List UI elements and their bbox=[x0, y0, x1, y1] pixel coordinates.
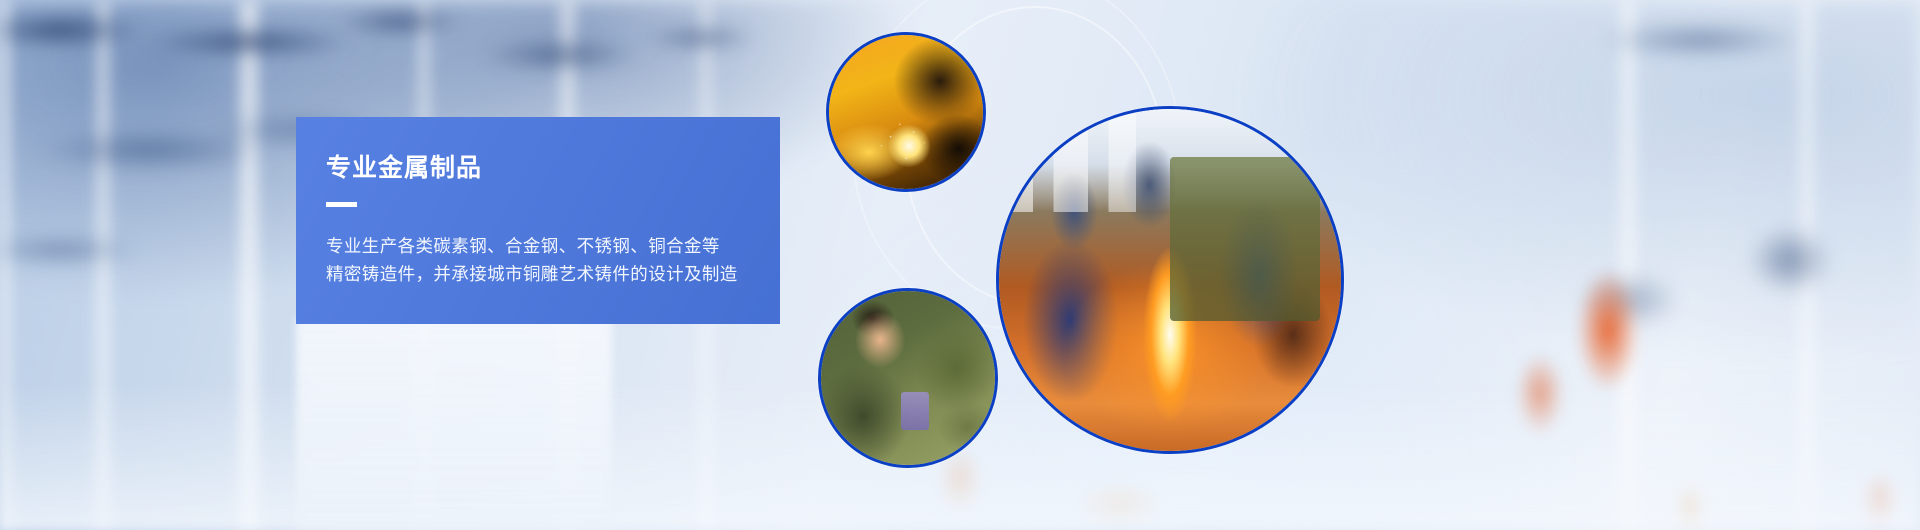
foundry-pour-photo bbox=[996, 106, 1344, 454]
worker-inspection-photo-art bbox=[821, 291, 995, 465]
foundry-pour-photo-art bbox=[999, 109, 1341, 451]
hero-description-line-2: 精密铸造件，并承接城市铜雕艺术铸件的设计及制造 bbox=[326, 260, 780, 288]
hero-description: 专业生产各类碳素钢、合金钢、不锈钢、铜合金等 精密铸造件，并承接城市铜雕艺术铸件… bbox=[326, 232, 780, 289]
hero-description-line-1: 专业生产各类碳素钢、合金钢、不锈钢、铜合金等 bbox=[326, 232, 780, 260]
welding-sparks-photo-art bbox=[829, 35, 983, 189]
hero-banner: 专业金属制品 专业生产各类碳素钢、合金钢、不锈钢、铜合金等 精密铸造件，并承接城… bbox=[0, 0, 1920, 530]
worker-inspection-photo bbox=[818, 288, 998, 468]
welding-sparks-photo bbox=[826, 32, 986, 192]
hero-text-panel-inner: 专业金属制品 专业生产各类碳素钢、合金钢、不锈钢、铜合金等 精密铸造件，并承接城… bbox=[296, 117, 780, 289]
title-divider bbox=[326, 202, 357, 207]
hero-text-panel: 专业金属制品 专业生产各类碳素钢、合金钢、不锈钢、铜合金等 精密铸造件，并承接城… bbox=[296, 117, 780, 324]
photo-collage bbox=[0, 0, 1920, 530]
page-title: 专业金属制品 bbox=[326, 156, 780, 181]
